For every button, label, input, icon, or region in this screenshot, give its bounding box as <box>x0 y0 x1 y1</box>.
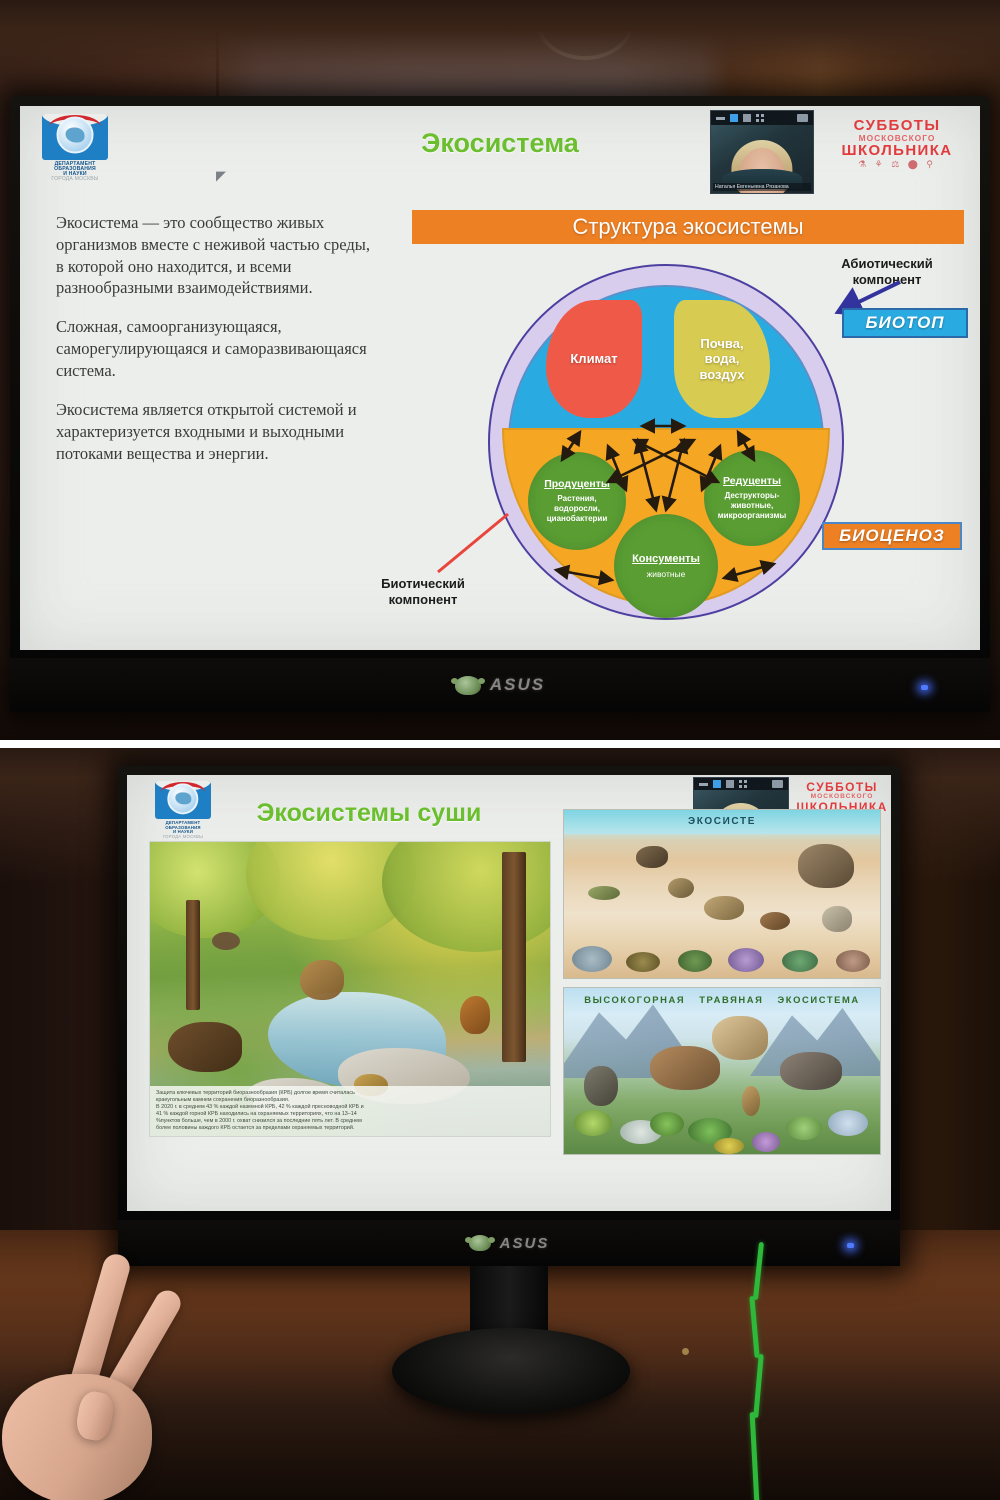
minimize-icon-2[interactable] <box>699 783 708 786</box>
node-climate: Климат <box>546 300 642 418</box>
monitor-2: ASUS ДЕПАРТАМЕНТ ОБРАЗОВАНИЯ И НАУКИ ГОР… <box>118 766 900 1266</box>
caption-line-1: Защита ключевых территорий биоразнообраз… <box>156 1090 544 1097</box>
desert-snake <box>636 846 668 868</box>
hand-peace-sign <box>0 1234 250 1500</box>
monitor-stand-base <box>392 1328 630 1414</box>
alpine-plant-6 <box>752 1132 780 1152</box>
alpine-plant-7 <box>786 1116 822 1140</box>
active-speaker-view-icon[interactable] <box>730 114 738 122</box>
node-consumers: Консументы животные <box>614 514 718 618</box>
plant-saltwort <box>626 952 660 972</box>
logo-caption: ДЕПАРТАМЕНТ ОБРАЗОВАНИЯ И НАУКИ ГОРОДА М… <box>42 162 108 183</box>
diagram-header-bar: Структура экосистемы <box>412 210 964 244</box>
desert-jerboa <box>704 896 744 920</box>
photo-monitor-slide-2: ASUS ДЕПАРТАМЕНТ ОБРАЗОВАНИЯ И НАУКИ ГОР… <box>0 748 1000 1500</box>
monitor-chin: ASUS <box>10 658 990 712</box>
monitor-1: ASUS ДЕПАРТАМЕНТ ОБРАЗОВАНИЯ И НАУКИ ГОР… <box>10 96 990 712</box>
panel-alpine-title: ВЫСОКОГОРНАЯ ТРАВЯНАЯ ЭКОСИСТЕМА <box>564 994 880 1005</box>
palm <box>2 1374 152 1500</box>
video-call-toolbar-2[interactable] <box>694 778 788 790</box>
alpine-title-word-2: ТРАВЯНАЯ <box>699 994 763 1005</box>
desert-sandgrouse <box>822 906 852 932</box>
ibex <box>650 1046 720 1090</box>
tree-trunk-right <box>502 852 526 1062</box>
video-feed[interactable]: ✥ Наталья Евгеньевна Рязанова <box>711 125 813 193</box>
desk-screw <box>682 1348 689 1355</box>
snow-leopard <box>712 1016 768 1060</box>
video-call-toolbar[interactable] <box>711 111 813 125</box>
tree-trunk-left <box>186 900 200 1010</box>
slide-canvas-1: ДЕПАРТАМЕНТ ОБРАЗОВАНИЯ И НАУКИ ГОРОДА М… <box>20 106 980 650</box>
squirrel <box>460 996 490 1034</box>
ecosystem-structure-diagram: Климат Почва, вода, воздух Продуценты Ра… <box>488 264 844 620</box>
plant-calligonum <box>678 950 712 972</box>
forest-ecosystem-illustration: Защита ключевых территорий биоразнообраз… <box>149 841 551 1137</box>
paragraph-2: Сложная, самоорганизующаяся, саморегулир… <box>56 316 376 381</box>
share-screen-icon[interactable] <box>797 114 808 122</box>
node-producers: Продуценты Растения, водоросли, цианобак… <box>528 452 626 550</box>
panel-desert-ecosystem: ЭКОСИСТЕ <box>563 809 881 979</box>
subbota-banner: СУББОТЫ МОСКОВСКОГО ШКОЛЬНИКА ⚗ ⚘ ⚖ ⬤ ⚲ <box>826 118 968 170</box>
bear <box>168 1022 242 1072</box>
tag-biotop: БИОТОП <box>842 308 968 338</box>
desert-agama <box>588 886 620 900</box>
photo-separator <box>0 740 1000 748</box>
grid-view-icon-2[interactable] <box>739 780 748 789</box>
definition-text: Экосистема — это сообщество живых органи… <box>56 212 376 482</box>
plant-sedge <box>836 950 870 972</box>
caption-line-6: более половины каждого КРБ остается за п… <box>156 1125 544 1132</box>
slide-canvas-2: ДЕПАРТАМЕНТ ОБРАЗОВАНИЯ И НАУКИ ГОРОДА М… <box>127 775 891 1211</box>
toy-figurine-sticker-2 <box>469 1235 491 1251</box>
caption-line-4: 41 % каждой горной КРБ находились на охр… <box>156 1111 544 1118</box>
photo-monitor-slide-1: ASUS ДЕПАРТАМЕНТ ОБРАЗОВАНИЯ И НАУКИ ГОР… <box>0 0 1000 740</box>
subbota-icon-row: ⚗ ⚘ ⚖ ⬤ ⚲ <box>826 160 968 169</box>
subbota-line-3: ШКОЛЬНИКА <box>826 143 968 159</box>
biodiversity-caption: Защита ключевых территорий биоразнообраз… <box>150 1086 550 1136</box>
plant-saxaul <box>782 950 818 972</box>
subbota-2-line-1: СУББОТЫ <box>789 781 891 794</box>
panel-desert-title: ЭКОСИСТЕ <box>564 816 880 827</box>
alpine-plant-3 <box>650 1112 684 1136</box>
filmstrip-view-icon[interactable] <box>743 114 751 122</box>
subbota-line-1: СУББОТЫ <box>826 118 968 134</box>
minimize-icon[interactable] <box>716 117 725 120</box>
participant-name: Наталья Евгеньевна Рязанова <box>713 183 811 191</box>
bird-1 <box>212 932 240 950</box>
alpine-plant-8 <box>828 1110 868 1136</box>
alpine-plant-5 <box>714 1138 744 1154</box>
paragraph-1: Экосистема — это сообщество живых органи… <box>56 212 376 299</box>
alpine-title-word-1: ВЫСОКОГОРНАЯ <box>584 994 685 1005</box>
alpine-title-word-3: ЭКОСИСТЕМА <box>778 994 860 1005</box>
filmstrip-view-icon-2[interactable] <box>726 780 734 788</box>
caption-line-3: В 2020 г. в среднем 43 % каждой наземной… <box>156 1104 544 1111</box>
paragraph-3: Экосистема является открытой системой и … <box>56 399 376 464</box>
biotic-callout: Биотический компонент <box>350 576 496 608</box>
node-reducers: Редуценты Деструкторы- животные, микроор… <box>704 450 800 546</box>
caption-line-2: краеугольным камнем сохранения биоразноо… <box>156 1097 544 1104</box>
tag-biocenoz: БИОЦЕНОЗ <box>822 522 962 550</box>
power-led-2 <box>847 1243 854 1248</box>
asus-logo-2: ASUS <box>500 1235 550 1252</box>
toy-figurine-sticker <box>455 676 481 695</box>
argali <box>780 1052 842 1090</box>
plant-wormwood <box>572 946 612 972</box>
asus-logo: ASUS <box>490 675 545 695</box>
snowcock <box>584 1066 618 1106</box>
deer <box>300 960 344 1000</box>
desert-vole <box>668 878 694 898</box>
caption-line-5: %пунктов больше, чем в 2000 г. охват сни… <box>156 1118 544 1125</box>
plant-camel-thorn <box>728 948 764 972</box>
mouse-cursor: ◤ <box>216 168 226 184</box>
video-call-tile[interactable]: ✥ Наталья Евгеньевна Рязанова <box>710 110 814 194</box>
share-screen-icon-2[interactable] <box>772 780 783 788</box>
desert-weasel <box>760 912 790 930</box>
panel-alpine-ecosystem: ВЫСОКОГОРНАЯ ТРАВЯНАЯ ЭКОСИСТЕМА <box>563 987 881 1155</box>
alpine-plant-1 <box>574 1110 612 1136</box>
abiotic-callout: Абиотический компонент <box>816 256 958 288</box>
power-led <box>921 685 928 690</box>
marmot <box>742 1086 760 1116</box>
active-speaker-view-icon-2[interactable] <box>713 780 721 788</box>
grid-view-icon[interactable] <box>756 114 765 123</box>
desert-fox <box>798 844 854 888</box>
